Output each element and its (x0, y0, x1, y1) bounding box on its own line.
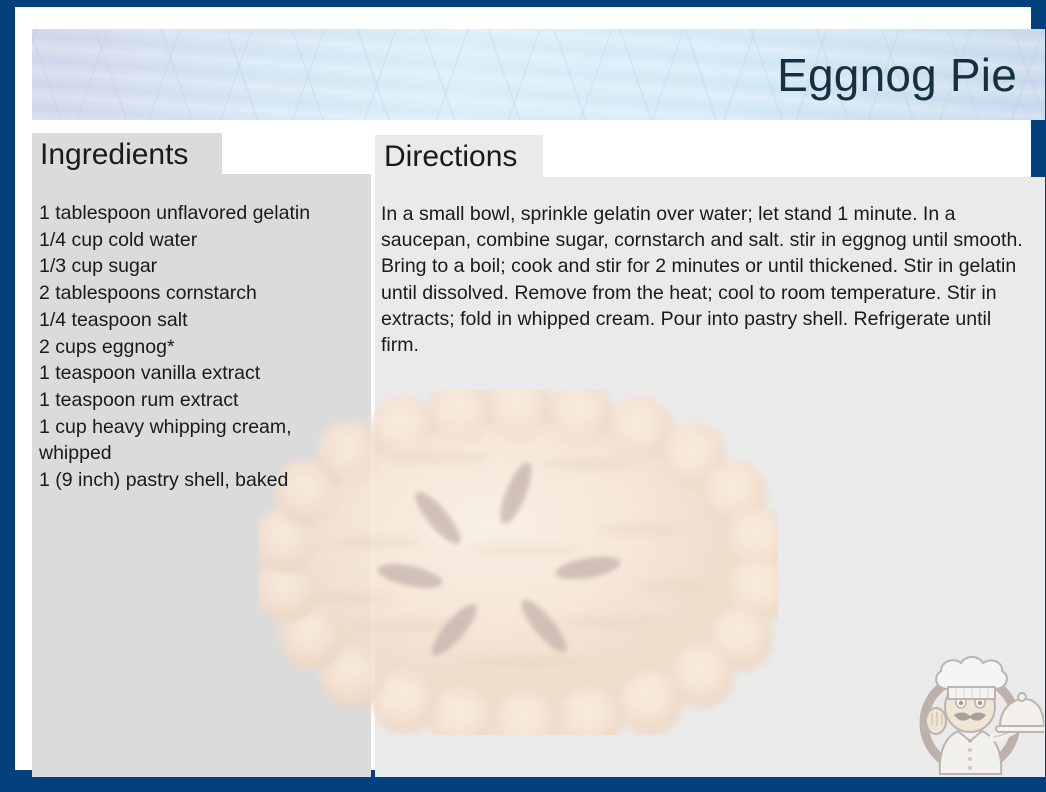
ingredients-list: 1 tablespoon unflavored gelatin 1/4 cup … (39, 200, 359, 494)
list-item: 1 (9 inch) pastry shell, baked (39, 467, 359, 494)
chef-left-hand (926, 708, 946, 734)
directions-text: In a small bowl, sprinkle gelatin over w… (381, 201, 1026, 358)
directions-heading: Directions (384, 140, 517, 174)
list-item: 1 cup heavy whipping cream, whipped (39, 414, 359, 467)
list-item: 1 tablespoon unflavored gelatin (39, 200, 359, 227)
serving-cloche-icon (996, 693, 1044, 732)
chef-hat (936, 657, 1007, 699)
list-item: 2 cups eggnog* (39, 334, 359, 361)
page-title: Eggnog Pie (777, 48, 1017, 102)
list-item: 1/3 cup sugar (39, 253, 359, 280)
chef-logo-icon (908, 649, 1044, 779)
recipe-card-slide: Eggnog Pie (0, 0, 1046, 792)
list-item: 1 teaspoon vanilla extract (39, 360, 359, 387)
title-banner: Eggnog Pie (32, 29, 1045, 120)
ingredients-heading: Ingredients (40, 138, 188, 172)
list-item: 1 teaspoon rum extract (39, 387, 359, 414)
page-surface: Eggnog Pie (15, 7, 1031, 770)
list-item: 2 tablespoons cornstarch (39, 280, 359, 307)
list-item: 1/4 cup cold water (39, 227, 359, 254)
list-item: 1/4 teaspoon salt (39, 307, 359, 334)
